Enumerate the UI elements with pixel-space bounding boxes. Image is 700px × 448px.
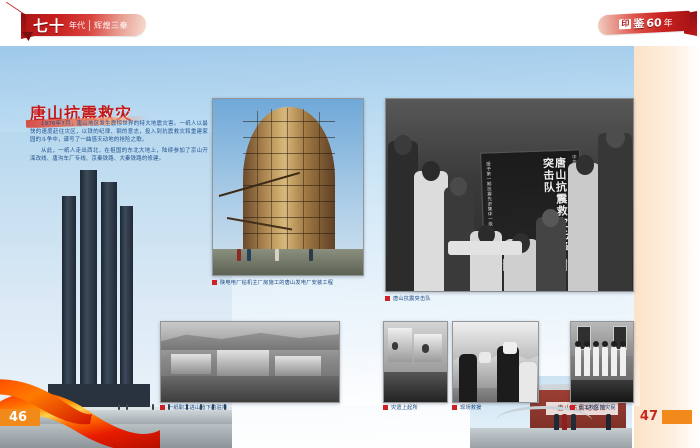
caption-text: 灾遗上起所 — [391, 404, 418, 411]
monument-column — [120, 206, 133, 396]
page-number-left: 46 — [0, 409, 40, 426]
caption-bullet-icon — [212, 280, 217, 285]
crowd-head — [576, 155, 594, 175]
caption-bullet-icon — [383, 405, 388, 410]
crowd-head — [606, 127, 625, 148]
helmet — [479, 352, 491, 363]
caption-bullet-icon — [385, 296, 390, 301]
caption-text: 陕电电厂钻机主厂房施工的唐山发电厂安装工程 — [220, 279, 333, 286]
caption-bullet-icon — [570, 405, 575, 410]
power-plant-construction-photo — [212, 98, 364, 276]
nurse-figure — [620, 346, 626, 376]
article-body: 1976年7月，唐山地区发生震惊世界的特大地震灾害。一纸人以最快的速度赶往灾区，… — [30, 120, 208, 165]
building-remains — [275, 356, 321, 376]
era-ribbon: 七十 年代 辉煌三秦 — [26, 12, 146, 40]
nurse-figure — [602, 346, 608, 376]
document-held — [448, 241, 522, 255]
pedestrian-figure — [571, 414, 576, 430]
era-label: 七十 — [33, 15, 65, 36]
magazine-spread: 七十 年代 辉煌三秦 印 鉴 60 年 — [0, 0, 700, 448]
rescue-digging-photo — [452, 321, 539, 403]
crowd-head — [394, 135, 412, 155]
scaffold-pole — [303, 109, 304, 255]
crowd-figure — [598, 133, 632, 291]
photo-caption: 灾遗上起所 — [383, 404, 418, 411]
collapsed-street-photo — [383, 321, 448, 403]
photo-caption: 一纸职工进山抢下的驻地 — [160, 404, 227, 411]
assault-team-banner-photo: 授予第一期抗震先进集体一级一级光荣 唐山抗震救灾先锋突击队 中华人民共和国铁道部 — [385, 98, 634, 292]
crowd-head — [450, 177, 467, 196]
brand-name-label: 鉴 — [633, 15, 644, 32]
brand-mark-label: 印 — [619, 19, 631, 30]
nurse-figure — [593, 346, 599, 376]
photo-caption: 陕电电厂钻机主厂房施工的唐山发电厂安装工程 — [212, 279, 333, 286]
page-number-right: 47 — [640, 409, 692, 424]
pedestrian-figure — [606, 414, 611, 430]
rescuer-figure — [497, 346, 519, 402]
crowd-head — [422, 161, 440, 181]
patient-row — [571, 380, 633, 402]
nurse-head — [593, 341, 599, 347]
monument-column — [101, 182, 117, 396]
nurse-figure — [611, 346, 617, 376]
page-number-right-label: 47 — [640, 409, 658, 424]
helmet — [503, 342, 517, 354]
nurse-head — [575, 341, 581, 347]
article-paragraph: 从此，一纸人走出西北，在祖国的东北大地上，陆续参加了京山开滦改线、唐沟车厂专线、… — [30, 147, 208, 163]
nurse-head — [602, 341, 608, 347]
rescuer-figure — [459, 354, 477, 402]
caption-text: 女工救医对灾民 — [578, 404, 616, 411]
era-subtitle-label: 辉煌三秦 — [94, 20, 128, 31]
photo-caption: 现场救援 — [452, 404, 482, 411]
crowd-figure — [414, 171, 448, 291]
right-gutter-strip — [634, 46, 700, 448]
photo-caption: 女工救医对灾民 — [570, 404, 616, 411]
pedestrian-figure — [562, 414, 567, 430]
monument-column — [80, 170, 97, 396]
photo-caption: 唐山抗震突击队 — [385, 295, 431, 302]
article-paragraph: 1976年7月，唐山地区发生震惊世界的特大地震灾害。一纸人以最快的速度赶往灾区，… — [30, 120, 208, 145]
brand-ribbon: 印 鉴 60 年 — [598, 8, 694, 40]
caption-text: 现场救援 — [460, 404, 482, 411]
medical-aid-photo — [570, 321, 634, 403]
crowd-head — [542, 209, 559, 227]
crowd-figure — [536, 217, 566, 291]
page-number-left-label: 46 — [9, 410, 27, 425]
debris-foreground — [384, 372, 447, 402]
ribbon-divider — [89, 20, 90, 31]
monument-column — [62, 196, 76, 396]
window-opening — [422, 344, 429, 353]
nurse-head — [584, 341, 590, 347]
pedestrian-figure — [554, 414, 559, 430]
nurse-figure — [575, 346, 581, 376]
nurse-head — [620, 341, 626, 347]
hall-plaza-ground — [470, 428, 632, 448]
window-opening — [392, 342, 398, 350]
spread-canvas: 唐山抗震纪念馆 唐山抗震救灾 1976年7月，唐山地区发生震惊世界的特大地震灾害… — [0, 46, 700, 448]
building-remains — [217, 350, 269, 376]
nurse-head — [611, 341, 617, 347]
brand-years-label: 60 — [646, 16, 661, 30]
brand-unit-label: 年 — [664, 15, 673, 28]
nurse-figure — [584, 346, 590, 376]
caption-text: 唐山抗震突击队 — [393, 295, 431, 302]
crowd-figure — [568, 163, 600, 291]
page-tab-right — [662, 410, 692, 424]
era-suffix-label: 年代 — [69, 20, 85, 31]
worker-figure — [237, 249, 241, 261]
scaffold-pole — [257, 111, 258, 253]
worker-figure — [247, 249, 251, 261]
rescuer-figure — [519, 362, 537, 402]
caption-text: 一纸职工进山抢下的驻地 — [168, 404, 227, 411]
mountain-ruins-photo — [160, 321, 340, 403]
scaffold-pole — [319, 112, 320, 252]
building-remains — [171, 354, 211, 374]
caption-bullet-icon — [452, 405, 457, 410]
photo-ground — [213, 249, 363, 275]
rubble-foreground — [161, 376, 339, 402]
scaffold-pole — [287, 108, 288, 256]
worker-figure — [275, 249, 279, 261]
worker-figure — [309, 249, 313, 261]
